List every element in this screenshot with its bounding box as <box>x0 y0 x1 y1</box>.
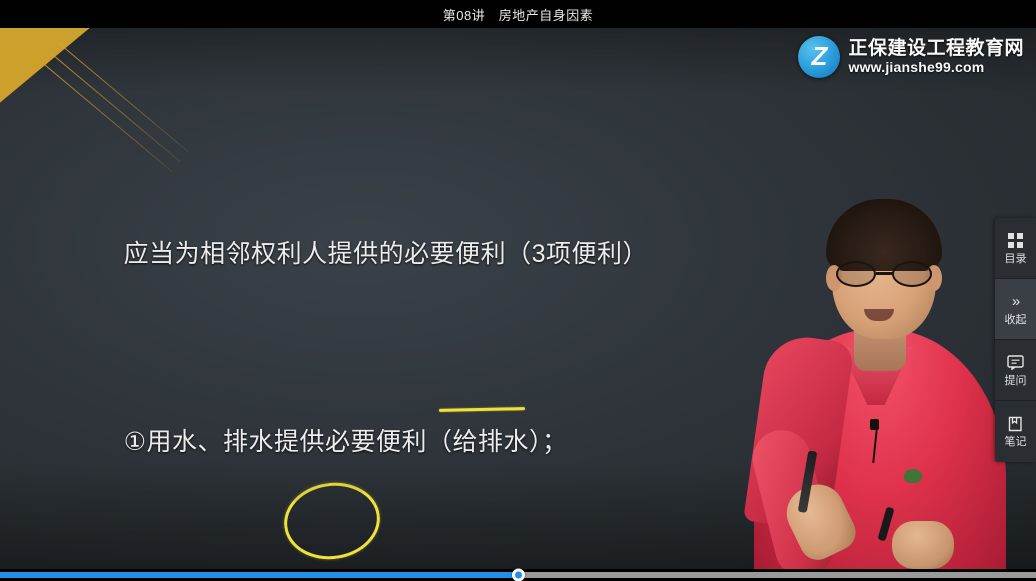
slide-line-2: ①用水、排水提供必要便利（给排水）； <box>28 372 798 419</box>
grid-icon <box>1008 232 1023 250</box>
progress-handle[interactable] <box>512 569 525 581</box>
logo-url: www.jianshe99.com <box>848 60 1024 75</box>
rail-item-ask[interactable]: 提问 <box>995 340 1036 401</box>
slide-line-2-text: ①用水、排水提供必要便利（给排水）； <box>124 428 568 456</box>
brand-logo: Z 正保建设工程教育网 www.jianshe99.com <box>798 36 1024 78</box>
rail-item-catalog[interactable]: 目录 <box>995 218 1036 279</box>
slide-line-3: ②通行的便利； <box>28 560 798 569</box>
progress-track[interactable] <box>0 572 1036 578</box>
underline-annotation <box>439 407 525 412</box>
tool-rail: 目录 » 收起 提问 <box>995 218 1036 462</box>
slide-line-1: 应当为相邻权利人提供的必要便利（3项便利） <box>28 184 798 231</box>
chat-bubble-icon <box>1007 354 1024 372</box>
logo-mark-letter: Z <box>812 43 828 69</box>
rail-item-ask-label: 提问 <box>1005 376 1027 387</box>
slide-text-body: 应当为相邻权利人提供的必要便利（3项便利） ①用水、排水提供必要便利（给排水）；… <box>28 90 798 569</box>
chevron-right-double-icon: » <box>1012 293 1019 311</box>
video-stage[interactable]: 应当为相邻权利人提供的必要便利（3项便利） ①用水、排水提供必要便利（给排水）；… <box>0 28 1036 569</box>
video-player-page: 第08讲 房地产自身因素 应当为相邻权利人提供的必要便利（3项便利） ①用水、排… <box>0 0 1036 581</box>
slide-line-1-text: 应当为相邻权利人提供的必要便利（3项便利） <box>124 240 648 268</box>
logo-mark-icon: Z <box>798 36 840 78</box>
page-title: 第08讲 房地产自身因素 <box>443 5 593 24</box>
rail-item-catalog-label: 目录 <box>1005 254 1027 265</box>
rail-item-collapse[interactable]: » 收起 <box>995 279 1036 340</box>
player-progress-bar[interactable] <box>0 569 1036 581</box>
progress-fill <box>0 572 518 578</box>
note-icon <box>1008 415 1023 433</box>
rail-item-notes-label: 笔记 <box>1005 437 1027 448</box>
rail-item-collapse-label: 收起 <box>1005 315 1027 326</box>
titlebar: 第08讲 房地产自身因素 <box>0 0 1036 28</box>
rail-item-notes[interactable]: 笔记 <box>995 401 1036 462</box>
logo-brand-name: 正保建设工程教育网 <box>848 39 1024 59</box>
